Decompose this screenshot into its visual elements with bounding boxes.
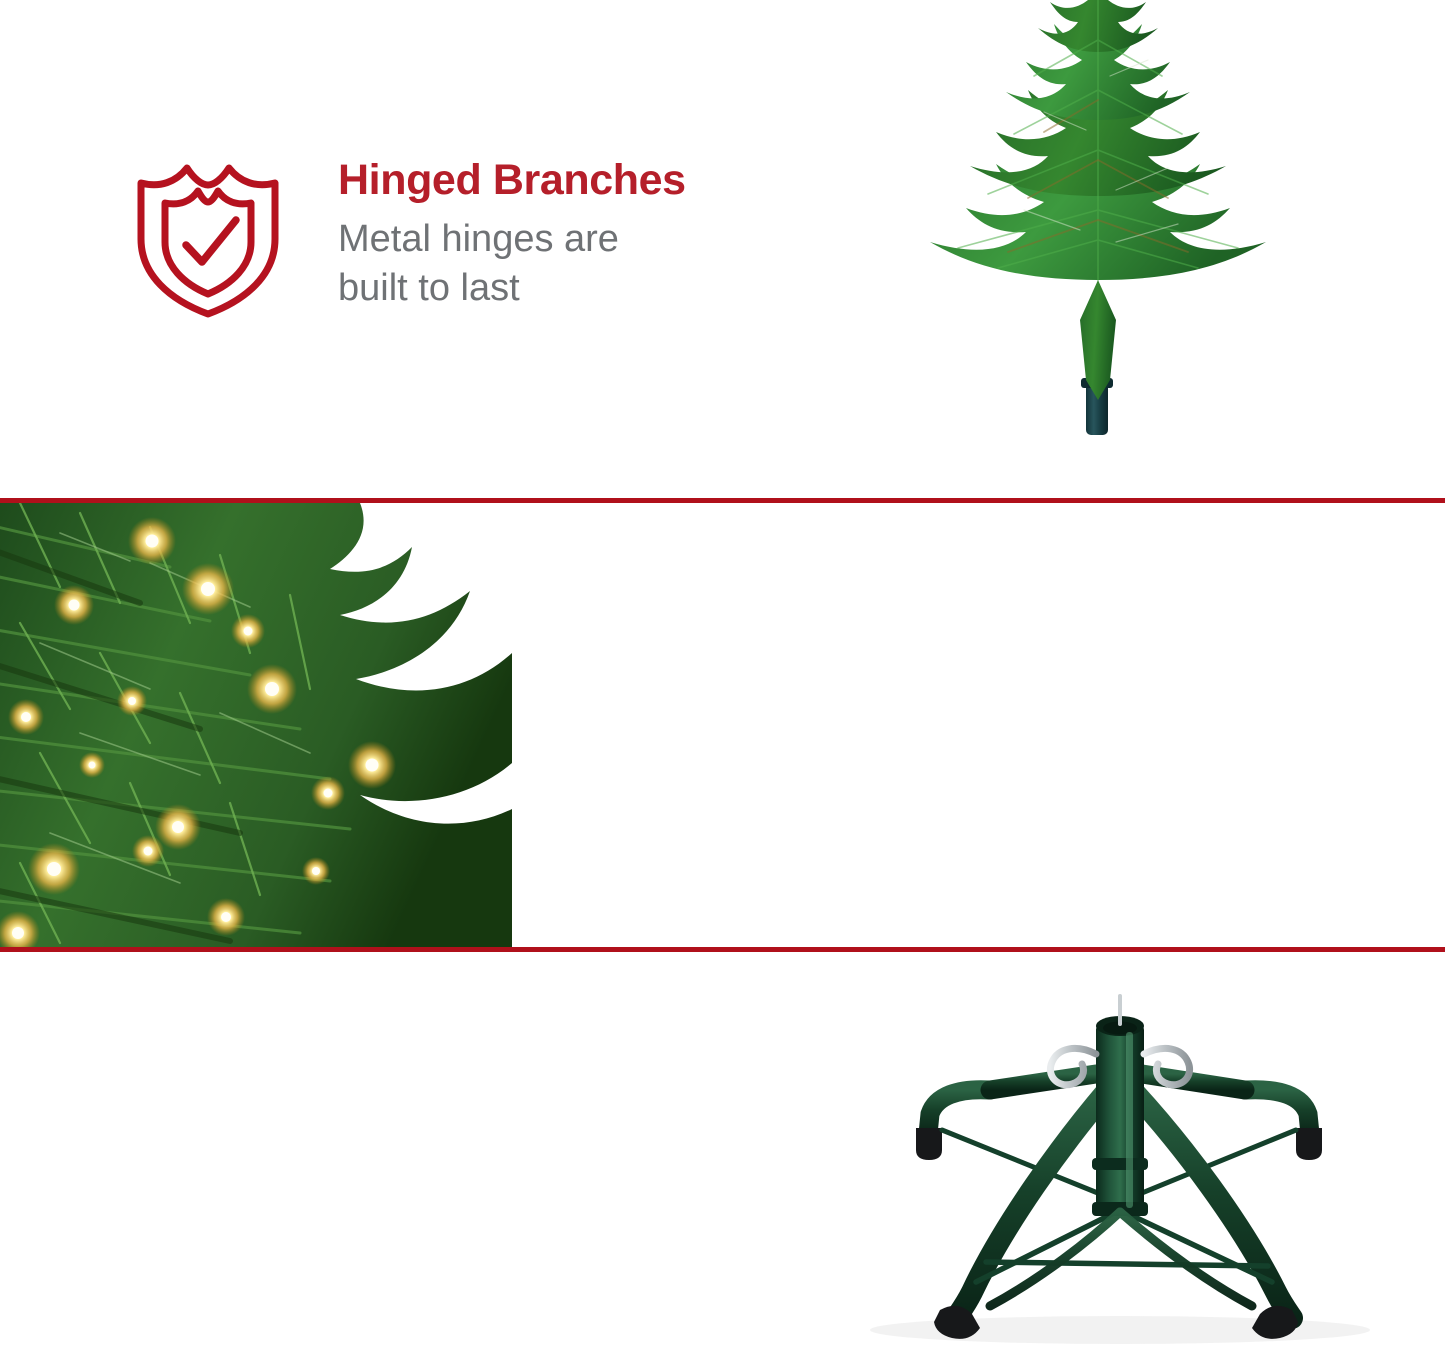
feature-panel-pvc-tips: PVC Tips Flame-retardant and easy to flu… [0,503,1445,947]
feature-subtitle: Metal hinges are built to last [338,215,686,312]
pre-lit-tree-closeup-photo [0,503,512,947]
metal-tree-stand-photo [790,962,1445,1352]
feature-panel-hinged-branches: Hinged Branches Metal hinges are built t… [0,0,1445,498]
feature-title: Hinged Branches [338,158,686,203]
feature-text-hinged-branches: Hinged Branches Metal hinges are built t… [338,158,686,312]
shield-check-icon [128,160,288,320]
product-feature-infographic: Hinged Branches Metal hinges are built t… [0,0,1445,1360]
feature-panel-sturdy-base: Sturdy Base A reliable metal stand for y… [0,952,1445,1360]
artificial-tree-branch-photo [848,0,1348,480]
